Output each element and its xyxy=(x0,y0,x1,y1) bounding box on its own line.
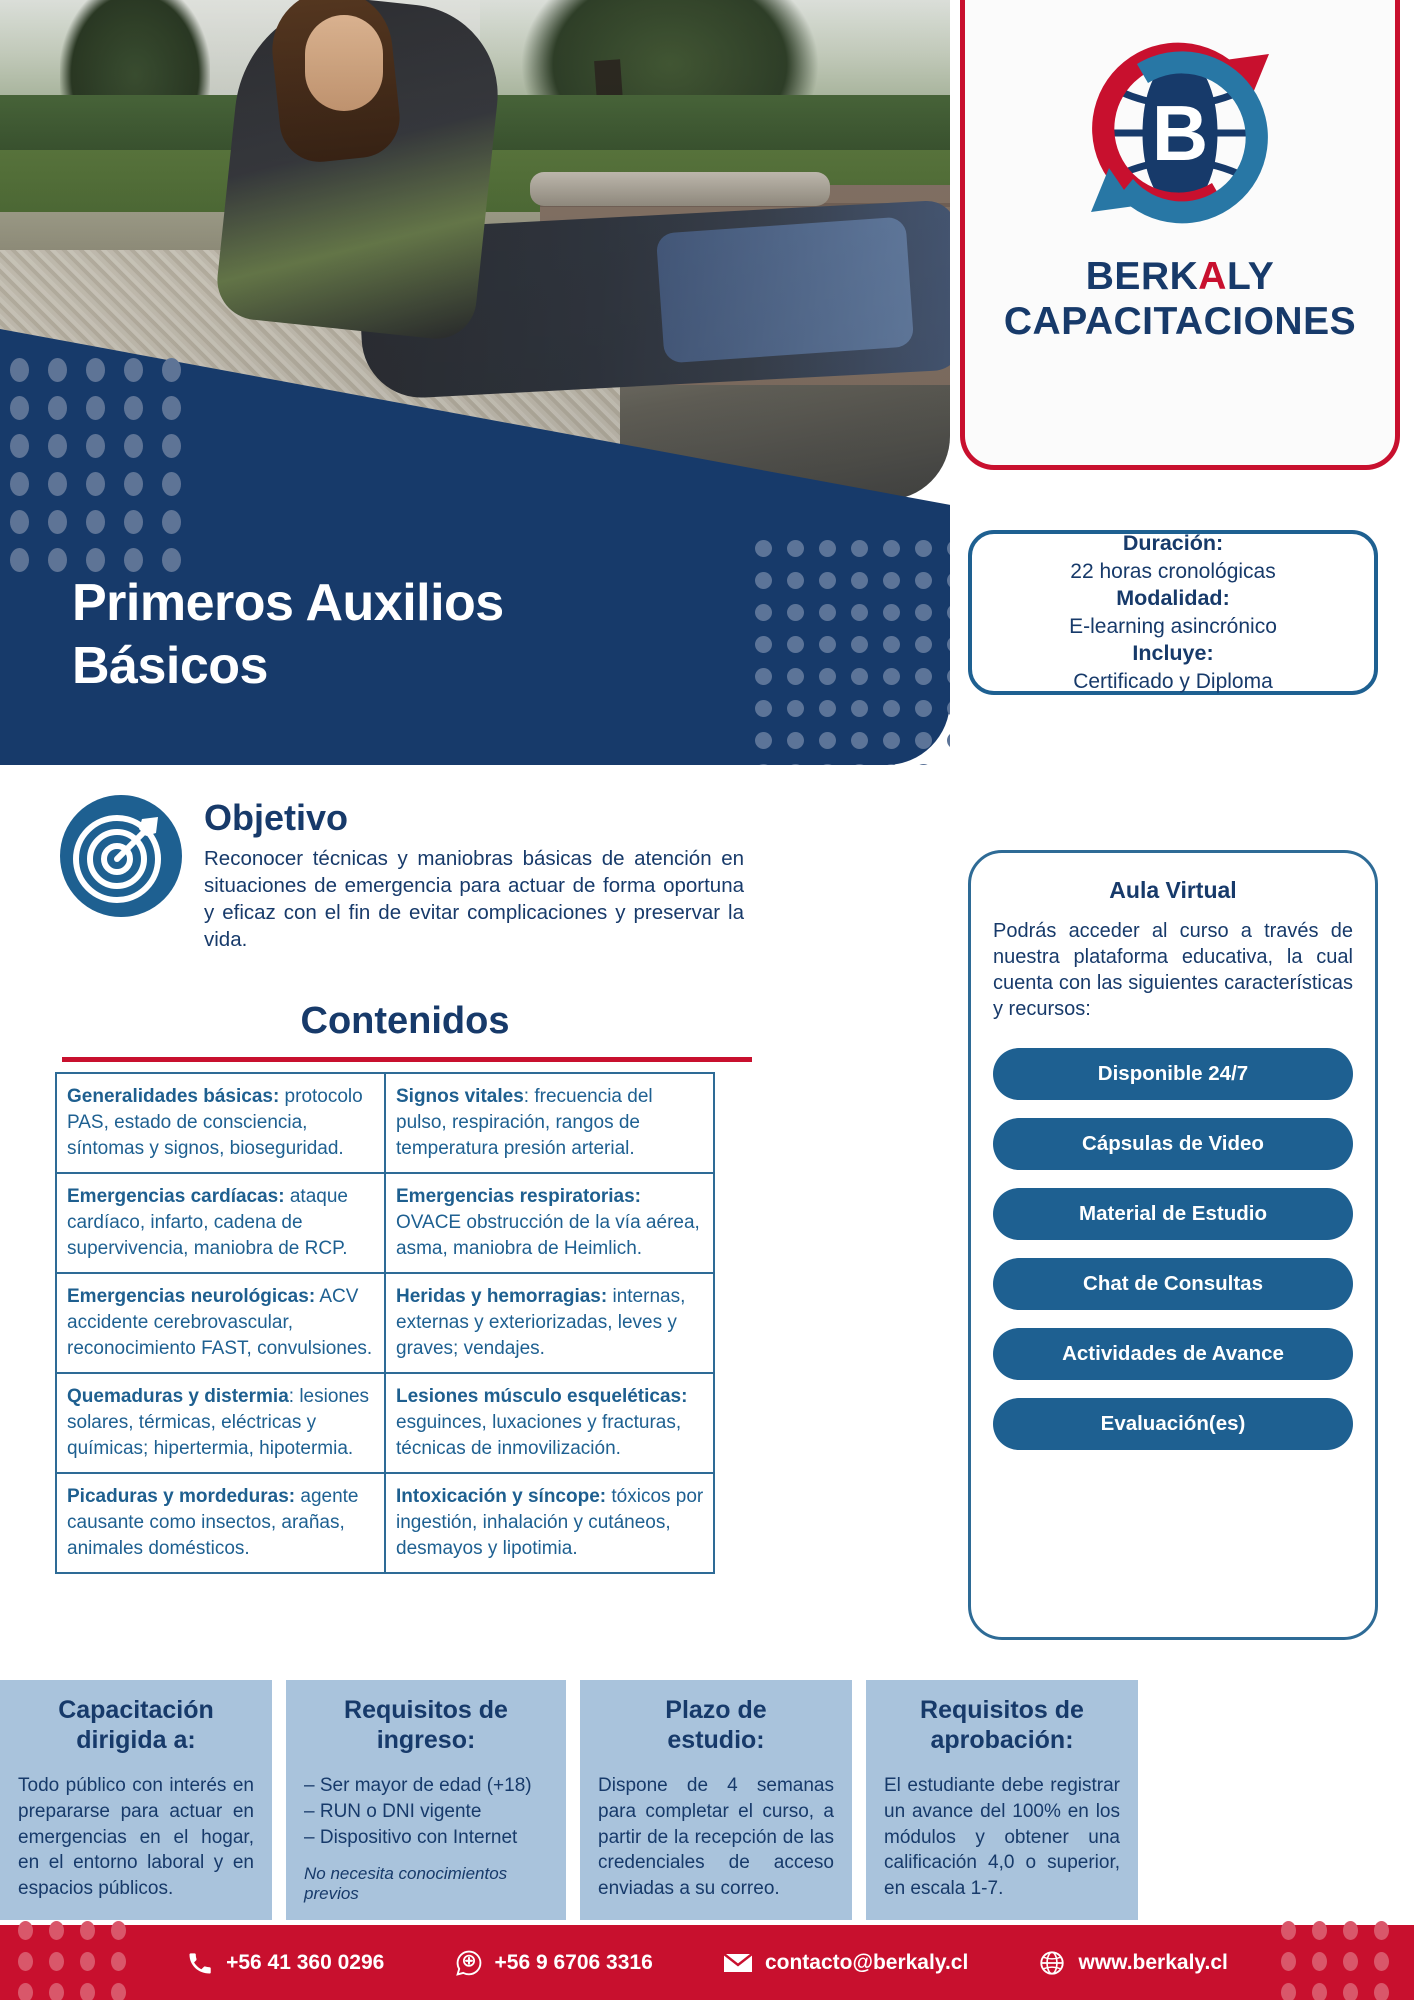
contents-divider xyxy=(62,1057,752,1062)
aula-feature-pill[interactable]: Chat de Consultas xyxy=(993,1258,1353,1310)
aula-virtual-panel: Aula Virtual Podrás acceder al curso a t… xyxy=(968,850,1378,1640)
info-column: Plazo deestudio:Dispone de 4 semanas par… xyxy=(580,1680,852,1920)
brand-wordmark: BERKALY CAPACITACIONES xyxy=(1004,254,1356,344)
contact-whatsapp[interactable]: +56 9 6706 3316 xyxy=(455,1949,653,1977)
contents-cell-body: esguinces, luxaciones y fracturas, técni… xyxy=(396,1412,681,1459)
brand-name-accent: A xyxy=(1198,255,1227,298)
decorative-dot-grid-footer-right xyxy=(1281,1921,1396,2000)
hero-section: Primeros Auxilios Básicos xyxy=(0,0,950,765)
includes-value: Certificado y Diploma xyxy=(1073,668,1273,695)
contact-phone[interactable]: +56 41 360 0296 xyxy=(186,1949,384,1977)
objective-text: Reconocer técnicas y maniobras básicas d… xyxy=(204,845,744,953)
contact-website-label: www.berkaly.cl xyxy=(1078,1951,1227,1975)
info-column-list-item: – RUN o DNI vigente xyxy=(304,1799,548,1825)
contents-table-body: Generalidades básicas: protocolo PAS, es… xyxy=(56,1073,714,1573)
course-meta-box: Duración: 22 horas cronológicas Modalida… xyxy=(968,530,1378,695)
contents-cell: Signos vitales: frecuencia del pulso, re… xyxy=(385,1073,714,1173)
course-title-line2: Básicos xyxy=(72,635,504,698)
contents-cell: Emergencias neurológicas: ACV accidente … xyxy=(56,1273,385,1373)
brand-name-post: LY xyxy=(1227,255,1274,298)
contents-row: Emergencias neurológicas: ACV accidente … xyxy=(56,1273,714,1373)
contact-footer: +56 41 360 0296 +56 9 6706 3316 xyxy=(0,1925,1414,2000)
berkaly-globe-logo-icon: B xyxy=(1073,26,1287,240)
contents-cell: Emergencias cardíacas: ataque cardíaco, … xyxy=(56,1173,385,1273)
info-column-heading-line1: Requisitos de xyxy=(884,1696,1120,1726)
contents-cell-heading: Lesiones músculo esqueléticas: xyxy=(396,1386,687,1407)
course-title-line1: Primeros Auxilios xyxy=(72,572,504,635)
info-column: Requisitos deingreso:– Ser mayor de edad… xyxy=(286,1680,566,1920)
contact-email-label: contacto@berkaly.cl xyxy=(765,1951,968,1975)
contact-website[interactable]: www.berkaly.cl xyxy=(1038,1949,1227,1977)
contents-cell: Picaduras y mordeduras: agente causante … xyxy=(56,1473,385,1573)
brand-subtitle: CAPACITACIONES xyxy=(1004,299,1356,344)
contents-cell: Intoxicación y síncope: tóxicos por inge… xyxy=(385,1473,714,1573)
logo-letter: B xyxy=(1152,89,1208,177)
info-column-list-item: – Ser mayor de edad (+18) xyxy=(304,1773,548,1799)
info-column-heading: Requisitos deingreso: xyxy=(304,1696,548,1755)
brand-logo-card: B BERKALY CAPACITACIONES xyxy=(960,0,1400,470)
info-column-heading-line1: Capacitación xyxy=(18,1696,254,1726)
info-column-heading-line1: Requisitos de xyxy=(304,1696,548,1726)
contents-row: Quemaduras y distermia: lesiones solares… xyxy=(56,1373,714,1473)
objective-title: Objetivo xyxy=(204,797,744,839)
envelope-icon xyxy=(723,1951,753,1975)
info-column: Requisitos deaprobación:El estudiante de… xyxy=(866,1680,1138,1920)
contents-cell-heading: Emergencias respiratorias: xyxy=(396,1186,641,1207)
whatsapp-icon xyxy=(455,1949,483,1977)
contents-cell-heading: Intoxicación y síncope: xyxy=(396,1486,606,1507)
info-column-body: Todo público con interés en prepararse p… xyxy=(18,1773,254,1902)
contents-cell: Generalidades básicas: protocolo PAS, es… xyxy=(56,1073,385,1173)
aula-feature-pill[interactable]: Disponible 24/7 xyxy=(993,1048,1353,1100)
aula-feature-pill[interactable]: Actividades de Avance xyxy=(993,1328,1353,1380)
includes-label: Incluye: xyxy=(1132,640,1213,668)
contents-row: Emergencias cardíacas: ataque cardíaco, … xyxy=(56,1173,714,1273)
contents-cell-heading: Generalidades básicas: xyxy=(67,1086,279,1107)
info-column-heading: Capacitacióndirigida a: xyxy=(18,1696,254,1755)
phone-icon xyxy=(186,1949,214,1977)
info-column-heading-line2: aprobación: xyxy=(884,1726,1120,1756)
duration-label: Duración: xyxy=(1123,530,1223,558)
info-column-heading: Plazo deestudio: xyxy=(598,1696,834,1755)
decorative-dot-grid-footer-left xyxy=(18,1921,133,2000)
contents-cell: Quemaduras y distermia: lesiones solares… xyxy=(56,1373,385,1473)
aula-feature-pill[interactable]: Cápsulas de Video xyxy=(993,1118,1353,1170)
info-column-heading-line2: estudio: xyxy=(598,1726,834,1756)
info-column-body: El estudiante debe registrar un avance d… xyxy=(884,1773,1120,1902)
modality-label: Modalidad: xyxy=(1116,585,1229,613)
contact-whatsapp-label: +56 9 6706 3316 xyxy=(495,1951,653,1975)
contents-cell-heading: Signos vitales xyxy=(396,1086,524,1107)
brand-name-pre: BERK xyxy=(1086,255,1199,298)
contact-email[interactable]: contacto@berkaly.cl xyxy=(723,1951,968,1975)
info-column-heading-line2: ingreso: xyxy=(304,1726,548,1756)
duration-value: 22 horas cronológicas xyxy=(1070,558,1275,585)
objective-section: Objetivo Reconocer técnicas y maniobras … xyxy=(60,795,750,953)
info-column-body: Dispone de 4 semanas para completar el c… xyxy=(598,1773,834,1902)
contents-cell-heading: Picaduras y mordeduras: xyxy=(67,1486,295,1507)
contents-cell-heading: Emergencias neurológicas: xyxy=(67,1286,315,1307)
info-column-list-item: – Dispositivo con Internet xyxy=(304,1825,548,1851)
contents-cell-heading: Quemaduras y distermia xyxy=(67,1386,289,1407)
contents-cell-body: OVACE obstrucción de la vía aérea, asma,… xyxy=(396,1212,700,1259)
contents-cell-heading: Heridas y hemorragias: xyxy=(396,1286,607,1307)
aula-feature-pill[interactable]: Evaluación(es) xyxy=(993,1398,1353,1450)
contents-row: Generalidades básicas: protocolo PAS, es… xyxy=(56,1073,714,1173)
info-column-list: – Ser mayor de edad (+18)– RUN o DNI vig… xyxy=(304,1773,548,1850)
contents-title: Contenidos xyxy=(55,1000,755,1043)
info-column-heading-line2: dirigida a: xyxy=(18,1726,254,1756)
decorative-dot-grid-left xyxy=(10,358,190,576)
aula-feature-pill[interactable]: Material de Estudio xyxy=(993,1188,1353,1240)
aula-feature-list: Disponible 24/7Cápsulas de VideoMaterial… xyxy=(993,1048,1353,1450)
info-column-heading-line1: Plazo de xyxy=(598,1696,834,1726)
course-title: Primeros Auxilios Básicos xyxy=(72,572,504,699)
globe-icon xyxy=(1038,1949,1066,1977)
flyer-page: Primeros Auxilios Básicos xyxy=(0,0,1414,2000)
info-column: Capacitacióndirigida a:Todo público con … xyxy=(0,1680,272,1920)
contents-cell: Emergencias respiratorias: OVACE obstruc… xyxy=(385,1173,714,1273)
target-icon xyxy=(60,795,182,917)
info-column-heading: Requisitos deaprobación: xyxy=(884,1696,1120,1755)
contents-cell: Lesiones músculo esqueléticas: esguinces… xyxy=(385,1373,714,1473)
contact-phone-label: +56 41 360 0296 xyxy=(226,1951,384,1975)
aula-virtual-title: Aula Virtual xyxy=(993,877,1353,904)
aula-virtual-text: Podrás acceder al curso a través de nues… xyxy=(993,918,1353,1022)
contents-row: Picaduras y mordeduras: agente causante … xyxy=(56,1473,714,1573)
modality-value: E-learning asincrónico xyxy=(1069,613,1277,640)
decorative-dot-grid-right xyxy=(755,540,950,765)
contents-cell-heading: Emergencias cardíacas: xyxy=(67,1186,285,1207)
info-column-note: No necesita conocimientos previos xyxy=(304,1864,548,1904)
contents-table: Generalidades básicas: protocolo PAS, es… xyxy=(55,1072,715,1574)
info-columns: Capacitacióndirigida a:Todo público con … xyxy=(0,1680,1414,1920)
contents-cell: Heridas y hemorragias: internas, externa… xyxy=(385,1273,714,1373)
